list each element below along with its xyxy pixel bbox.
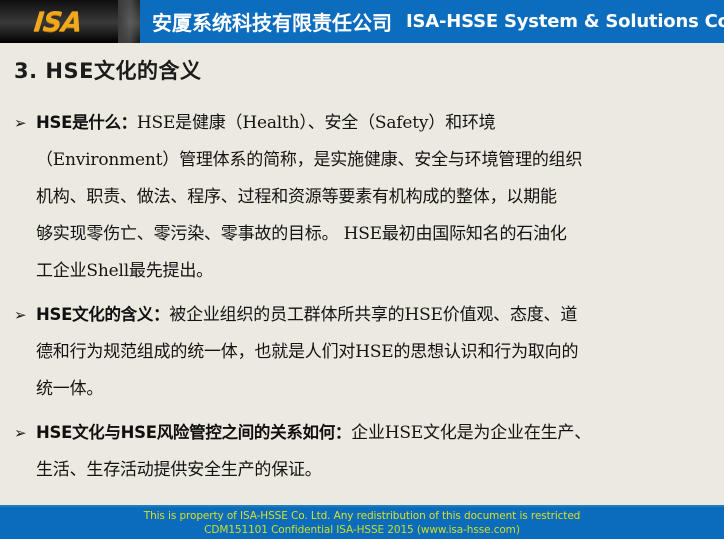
bullet-text-run: （Environment）管理体系的简称，是实施健康、安全与环境管理的组织 (36, 142, 582, 179)
isa-logo-icon: ISA (32, 7, 83, 38)
footer-copyright-line: This is property of ISA-HSSE Co. Ltd. An… (0, 509, 724, 523)
header-title-group: 安厦系统科技有限责任公司 ISA-HSSE System & Solutions… (152, 0, 724, 43)
slide-header-bar: ISA 安厦系统科技有限责任公司 ISA-HSSE System & Solut… (0, 0, 724, 43)
bullet-text-run: 够实现零伤亡、零污染、零事故的目标。 HSE最初由国际知名的石油化 (36, 216, 567, 253)
page-title: 3. HSE文化的含义 (14, 55, 201, 85)
bullet-line: ➢ HSE文化的含义： 被企业组织的员工群体所共享的HSE价值观、态度、道 (14, 296, 714, 334)
arrow-bullet-icon: ➢ (14, 105, 36, 142)
bullet-text-run: 德和行为规范组成的统一体，也就是人们对HSE的思想认识和行为取向的 (36, 334, 578, 371)
bullet-line: 统一体。 (14, 371, 714, 408)
bullet-text-run: 被企业组织的员工群体所共享的HSE价值观、态度、道 (169, 297, 577, 334)
arrow-bullet-icon: ➢ (14, 297, 36, 334)
bullet-block-1: ➢ HSE是什么： HSE是健康（Health）、安全（Safety）和环境 （… (14, 104, 714, 290)
bullet-block-3: ➢ HSE文化与HSE风险管控之间的关系如何： 企业HSE文化是为企业在生产、 … (14, 414, 714, 489)
bullet-text-run: 工企业Shell最先提出。 (36, 253, 213, 290)
footer-document-line: CDM151101 Confidential ISA-HSSE 2015 (ww… (0, 523, 724, 537)
bullet-text-run: 生活、生存活动提供安全生产的保证。 (36, 452, 322, 489)
presentation-slide: ISA 安厦系统科技有限责任公司 ISA-HSSE System & Solut… (0, 0, 724, 539)
bullet-line: 德和行为规范组成的统一体，也就是人们对HSE的思想认识和行为取向的 (14, 334, 714, 371)
bullet-lead-label: HSE文化与HSE风险管控之间的关系如何： (36, 414, 351, 451)
arrow-bullet-icon: ➢ (14, 415, 36, 452)
bullet-line: ➢ HSE文化与HSE风险管控之间的关系如何： 企业HSE文化是为企业在生产、 (14, 414, 714, 452)
bullet-block-2: ➢ HSE文化的含义： 被企业组织的员工群体所共享的HSE价值观、态度、道 德和… (14, 296, 714, 408)
bullet-text-run: HSE是健康（Health）、安全（Safety）和环境 (137, 105, 496, 142)
bullet-line: 机构、职责、做法、程序、过程和资源等要素有机构成的整体，以期能 (14, 179, 714, 216)
company-name-chinese: 安厦系统科技有限责任公司 (152, 7, 392, 36)
company-name-english: ISA-HSSE System & Solutions Co. LTD (406, 11, 724, 32)
slide-footer-bar: This is property of ISA-HSSE Co. Ltd. An… (0, 507, 724, 539)
bullet-text-run: 机构、职责、做法、程序、过程和资源等要素有机构成的整体，以期能 (36, 179, 557, 216)
bullet-lead-label: HSE是什么： (36, 104, 137, 141)
slide-body: ➢ HSE是什么： HSE是健康（Health）、安全（Safety）和环境 （… (14, 104, 714, 495)
bullet-line: 工企业Shell最先提出。 (14, 253, 714, 290)
bullet-line: （Environment）管理体系的简称，是实施健康、安全与环境管理的组织 (14, 142, 714, 179)
bullet-text-run: 企业HSE文化是为企业在生产、 (351, 415, 591, 452)
bullet-lead-label: HSE文化的含义： (36, 296, 169, 333)
bullet-line: 生活、生存活动提供安全生产的保证。 (14, 452, 714, 489)
bullet-line: ➢ HSE是什么： HSE是健康（Health）、安全（Safety）和环境 (14, 104, 714, 142)
logo-panel: ISA (0, 0, 140, 43)
bullet-line: 够实现零伤亡、零污染、零事故的目标。 HSE最初由国际知名的石油化 (14, 216, 714, 253)
bullet-text-run: 统一体。 (36, 371, 103, 408)
